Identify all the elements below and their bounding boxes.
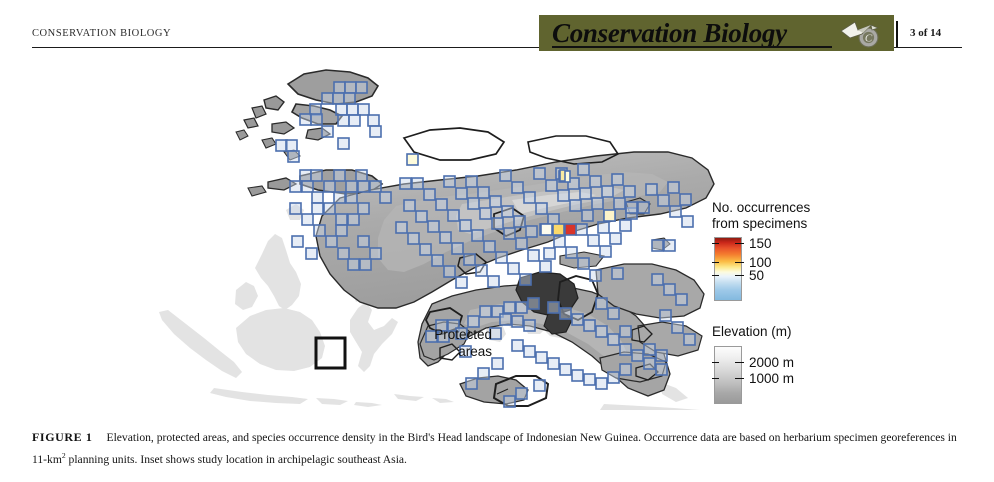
journal-title-underline [552, 46, 832, 48]
protected-areas-label: Protected areas [368, 326, 492, 360]
tick-mark-right [735, 243, 744, 244]
elevation-color-ramp [714, 346, 742, 404]
occurrence-legend-title: No. occurrences from specimens [712, 200, 810, 231]
elevation-tick-label-1000: 1000 m [749, 372, 794, 386]
occurrence-legend: No. occurrences from specimens 150 100 5… [712, 200, 810, 303]
page-number: 3 of 14 [910, 27, 941, 39]
elevation-tick-label-2000: 2000 m [749, 356, 794, 370]
tick-mark-left [712, 275, 719, 276]
figure-label: FIGURE 1 [32, 430, 92, 444]
occurrence-tick-label-50: 50 [749, 269, 764, 283]
tick-mark-left [712, 378, 719, 379]
tick-mark-left [712, 262, 719, 263]
caption-line-a: Elevation, protected areas, and species … [106, 431, 780, 444]
elevation-legend-title: Elevation (m) [712, 324, 792, 340]
figure-page: CONSERVATION BIOLOGY Conservation Biolog… [0, 0, 994, 482]
protected-areas-label-line1: Protected [368, 326, 492, 343]
bird-globe-logo-icon: C [838, 19, 884, 48]
tick-mark-left [712, 243, 719, 244]
map-canvas [0, 58, 994, 410]
figure-1-graphic: Protected areas No. occurrences from spe… [0, 58, 994, 410]
caption-line-b-post: planning units. Inset shows study locati… [66, 453, 407, 466]
journal-title: Conservation Biology [552, 17, 834, 49]
figure-caption: FIGURE 1Elevation, protected areas, and … [32, 428, 962, 469]
tick-mark-right [735, 378, 744, 379]
page-number-separator [896, 21, 898, 47]
svg-text:C: C [865, 33, 873, 45]
protected-areas-label-line2: areas [368, 343, 492, 360]
occurrence-tick-label-150: 150 [749, 237, 772, 251]
tick-mark-right [735, 262, 744, 263]
occurrence-color-ramp [714, 237, 742, 301]
elevation-legend: Elevation (m) 2000 m 1000 m [712, 324, 792, 406]
tick-mark-right [735, 275, 744, 276]
tick-mark-right [735, 362, 744, 363]
running-head: CONSERVATION BIOLOGY [32, 28, 171, 39]
tick-mark-left [712, 362, 719, 363]
